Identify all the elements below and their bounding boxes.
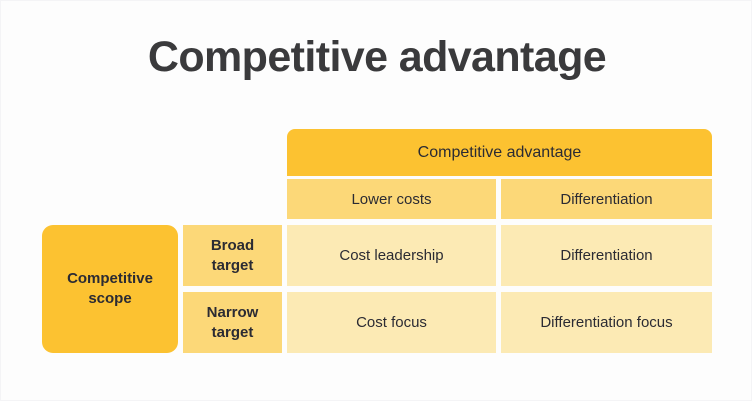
row-header-broad-line1: Broad [211, 237, 254, 254]
row-header-broad-target: Broad target [183, 225, 282, 286]
row-header-broad-line2: target [212, 257, 254, 274]
column-header-differentiation: Differentiation [501, 179, 712, 219]
row-header-narrow-line2: target [212, 324, 254, 341]
row-header-narrow-target: Narrow target [183, 292, 282, 353]
matrix-cell-cost-focus: Cost focus [287, 292, 496, 353]
row-header-narrow-line1: Narrow [207, 304, 259, 321]
column-header-lower-costs: Lower costs [287, 179, 496, 219]
matrix-cell-differentiation: Differentiation [501, 225, 712, 286]
matrix-cell-cost-leadership: Cost leadership [287, 225, 496, 286]
slide-canvas: Competitive advantage Competitive advant… [0, 0, 752, 401]
row-header-narrow-target-text: Narrow target [207, 303, 259, 343]
row-axis-header: Competitive scope [42, 225, 178, 353]
row-axis-header-text: Competitive scope [48, 269, 172, 309]
matrix-cell-differentiation-focus: Differentiation focus [501, 292, 712, 353]
row-header-broad-target-text: Broad target [211, 236, 254, 276]
page-title: Competitive advantage [1, 29, 752, 85]
column-axis-header: Competitive advantage [287, 129, 712, 176]
